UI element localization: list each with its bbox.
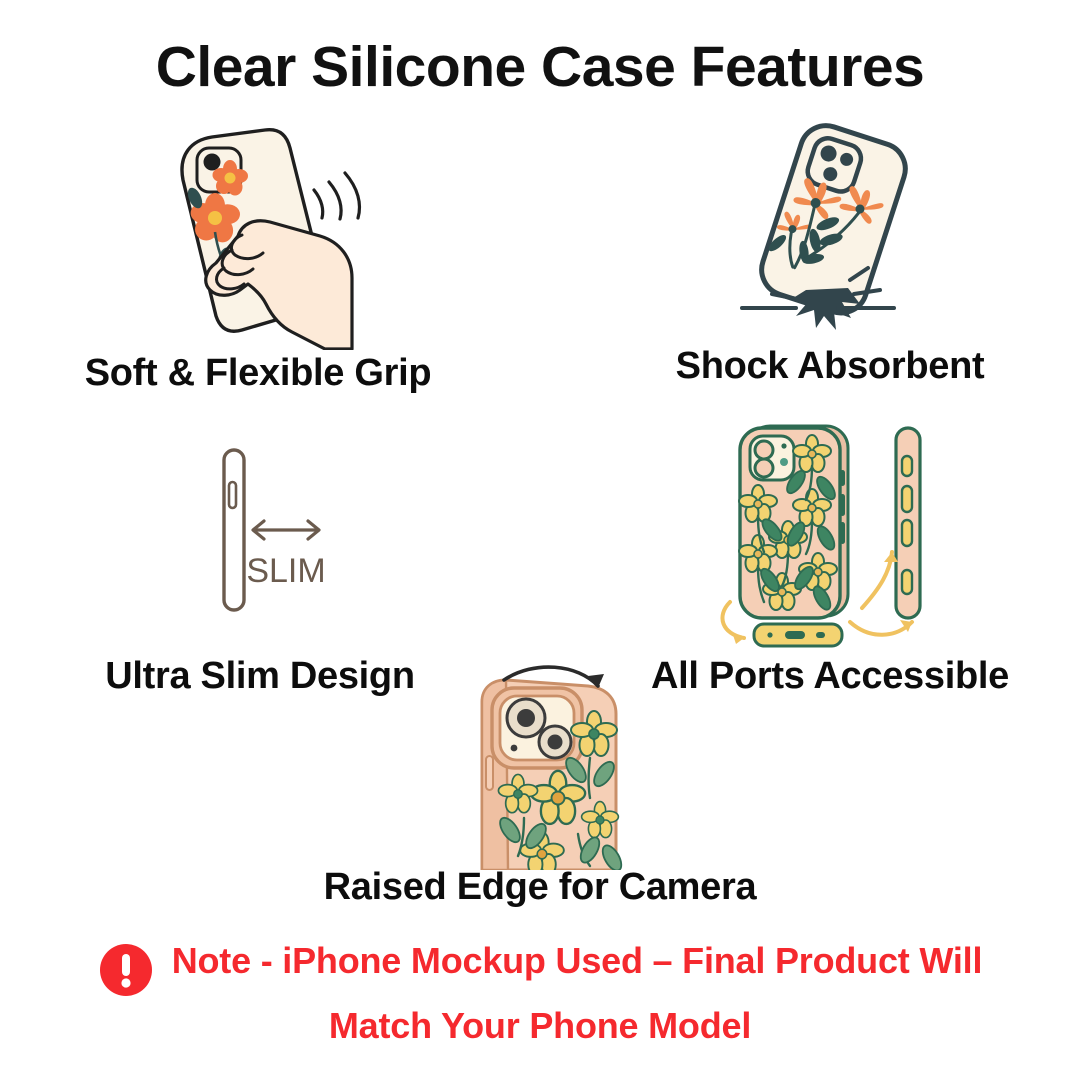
slim-measure-label: SLIM: [246, 552, 325, 590]
hand-holding-flexing-phone-case-icon: [120, 118, 420, 350]
note-line-2: Match Your Phone Model: [0, 1005, 1080, 1047]
phone-case-impact-burst-icon: [720, 118, 952, 340]
phone-side-profile-slim-icon: SLIM: [182, 422, 382, 634]
page-title: Clear Silicone Case Features: [0, 34, 1080, 100]
phone-case-ports-cutouts-icon: [700, 412, 962, 664]
note-line-1: Note - iPhone Mockup Used – Final Produc…: [172, 940, 983, 982]
infographic-page: Clear Silicone Case Features: [0, 0, 1080, 1080]
feature-caption-grip: Soft & Flexible Grip: [0, 352, 516, 395]
feature-caption-shock: Shock Absorbent: [570, 345, 1080, 388]
note-banner: Note - iPhone Mockup Used – Final Produc…: [0, 940, 1080, 1047]
feature-caption-camera: Raised Edge for Camera: [270, 866, 810, 909]
phone-case-raised-camera-edge-icon: [438, 658, 670, 870]
exclamation-circle-icon: [98, 942, 154, 1003]
